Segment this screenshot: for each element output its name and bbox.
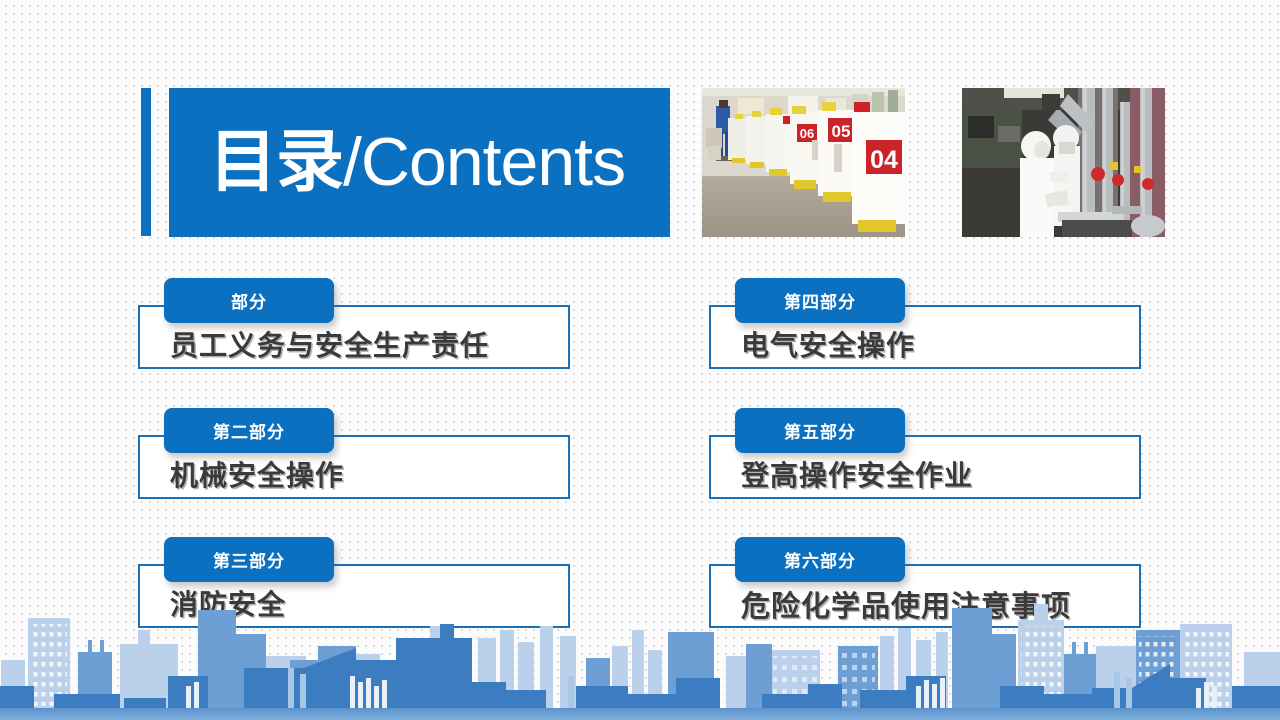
contents-row-4-title: 电气安全操作 bbox=[741, 324, 915, 364]
factory-line-photo: 06 05 04 bbox=[702, 88, 905, 237]
contents-row-2-badge-label: 第二部分 bbox=[213, 418, 285, 443]
contents-row-5[interactable]: 登高操作安全作业 第五部分 bbox=[709, 408, 1141, 480]
page-title-en: /Contents bbox=[343, 124, 625, 200]
page-title-cn: 目录 bbox=[209, 124, 343, 200]
contents-row-3-badge-label: 第三部分 bbox=[213, 547, 285, 572]
contents-row-1[interactable]: 员工义务与安全生产责任 部分 bbox=[138, 278, 570, 350]
svg-text:04: 04 bbox=[870, 146, 898, 174]
contents-row-4-badge-label: 第四部分 bbox=[784, 288, 856, 313]
contents-row-6-badge-label: 第六部分 bbox=[784, 547, 856, 572]
svg-text:05: 05 bbox=[832, 122, 851, 141]
svg-text:06: 06 bbox=[800, 126, 814, 141]
title-accent-bar bbox=[141, 88, 151, 236]
slide-canvas: 目录/Contents bbox=[0, 0, 1280, 720]
contents-row-1-badge: 部分 bbox=[164, 278, 334, 323]
contents-row-5-title: 登高操作安全作业 bbox=[741, 454, 973, 494]
contents-row-5-badge: 第五部分 bbox=[735, 408, 905, 453]
contents-row-2-badge: 第二部分 bbox=[164, 408, 334, 453]
contents-row-3-badge: 第三部分 bbox=[164, 537, 334, 582]
contents-row-6-badge: 第六部分 bbox=[735, 537, 905, 582]
contents-row-2-title: 机械安全操作 bbox=[170, 454, 344, 494]
contents-row-5-badge-label: 第五部分 bbox=[784, 418, 856, 443]
contents-row-2[interactable]: 机械安全操作 第二部分 bbox=[138, 408, 570, 480]
contents-row-4[interactable]: 电气安全操作 第四部分 bbox=[709, 278, 1141, 350]
title-block: 目录/Contents bbox=[169, 88, 670, 237]
contents-row-1-badge-label: 部分 bbox=[231, 288, 267, 313]
cleanroom-photo bbox=[962, 88, 1165, 237]
contents-row-4-badge: 第四部分 bbox=[735, 278, 905, 323]
city-skyline-decoration bbox=[0, 590, 1280, 720]
contents-row-1-title: 员工义务与安全生产责任 bbox=[170, 324, 489, 364]
page-title: 目录/Contents bbox=[209, 110, 625, 214]
